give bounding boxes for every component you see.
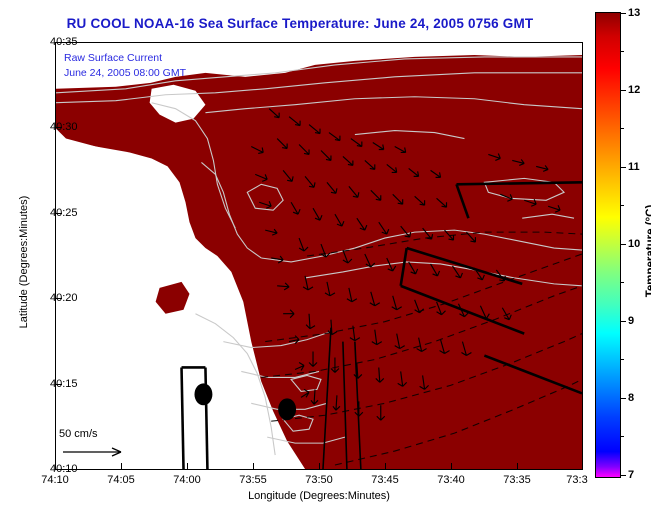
colorbar-title: Temperature (°C) xyxy=(645,171,651,331)
colorbar-tick-label: 9 xyxy=(628,315,634,327)
colorbar-tick-label: 10 xyxy=(628,238,640,250)
y-tick-label: 40:25 xyxy=(50,207,78,219)
y-tick-label: 40:35 xyxy=(50,36,78,48)
colorbar-tick-label: 13 xyxy=(628,7,640,19)
figure: RU COOL NOAA-16 Sea Surface Temperature:… xyxy=(0,0,651,515)
x-tick-label: 73:35 xyxy=(503,474,531,486)
x-tick-label: 73:50 xyxy=(305,474,333,486)
radar-station-marker xyxy=(194,383,212,405)
radar-station-marker xyxy=(278,398,296,420)
y-tick-label: 40:30 xyxy=(50,121,78,133)
temperature-colorbar xyxy=(595,12,621,478)
y-tick-label: 40:10 xyxy=(50,463,78,475)
y-tick-label: 40:15 xyxy=(50,378,78,390)
x-tick-label: 73:3 xyxy=(566,474,587,486)
x-tick-label: 74:00 xyxy=(173,474,201,486)
map-axes: Raw Surface Current June 24, 2005 08:00 … xyxy=(55,42,583,470)
x-tick-label: 73:40 xyxy=(437,474,465,486)
x-tick-label: 74:05 xyxy=(107,474,135,486)
page-title: RU COOL NOAA-16 Sea Surface Temperature:… xyxy=(0,16,600,31)
sst-raster xyxy=(56,43,582,469)
x-tick-label: 73:55 xyxy=(239,474,267,486)
x-axis-title: Longitude (Degrees:Minutes) xyxy=(55,490,583,502)
y-tick-label: 40:20 xyxy=(50,292,78,304)
colorbar-tick-label: 11 xyxy=(628,161,640,173)
colorbar-tick-label: 12 xyxy=(628,84,640,96)
y-axis-title: Latitude (Degrees:Minutes) xyxy=(18,162,30,362)
x-tick-label: 74:10 xyxy=(41,474,69,486)
colorbar-tick-label: 7 xyxy=(628,469,634,481)
colorbar-tick-label: 8 xyxy=(628,392,634,404)
x-tick-label: 73:45 xyxy=(371,474,399,486)
